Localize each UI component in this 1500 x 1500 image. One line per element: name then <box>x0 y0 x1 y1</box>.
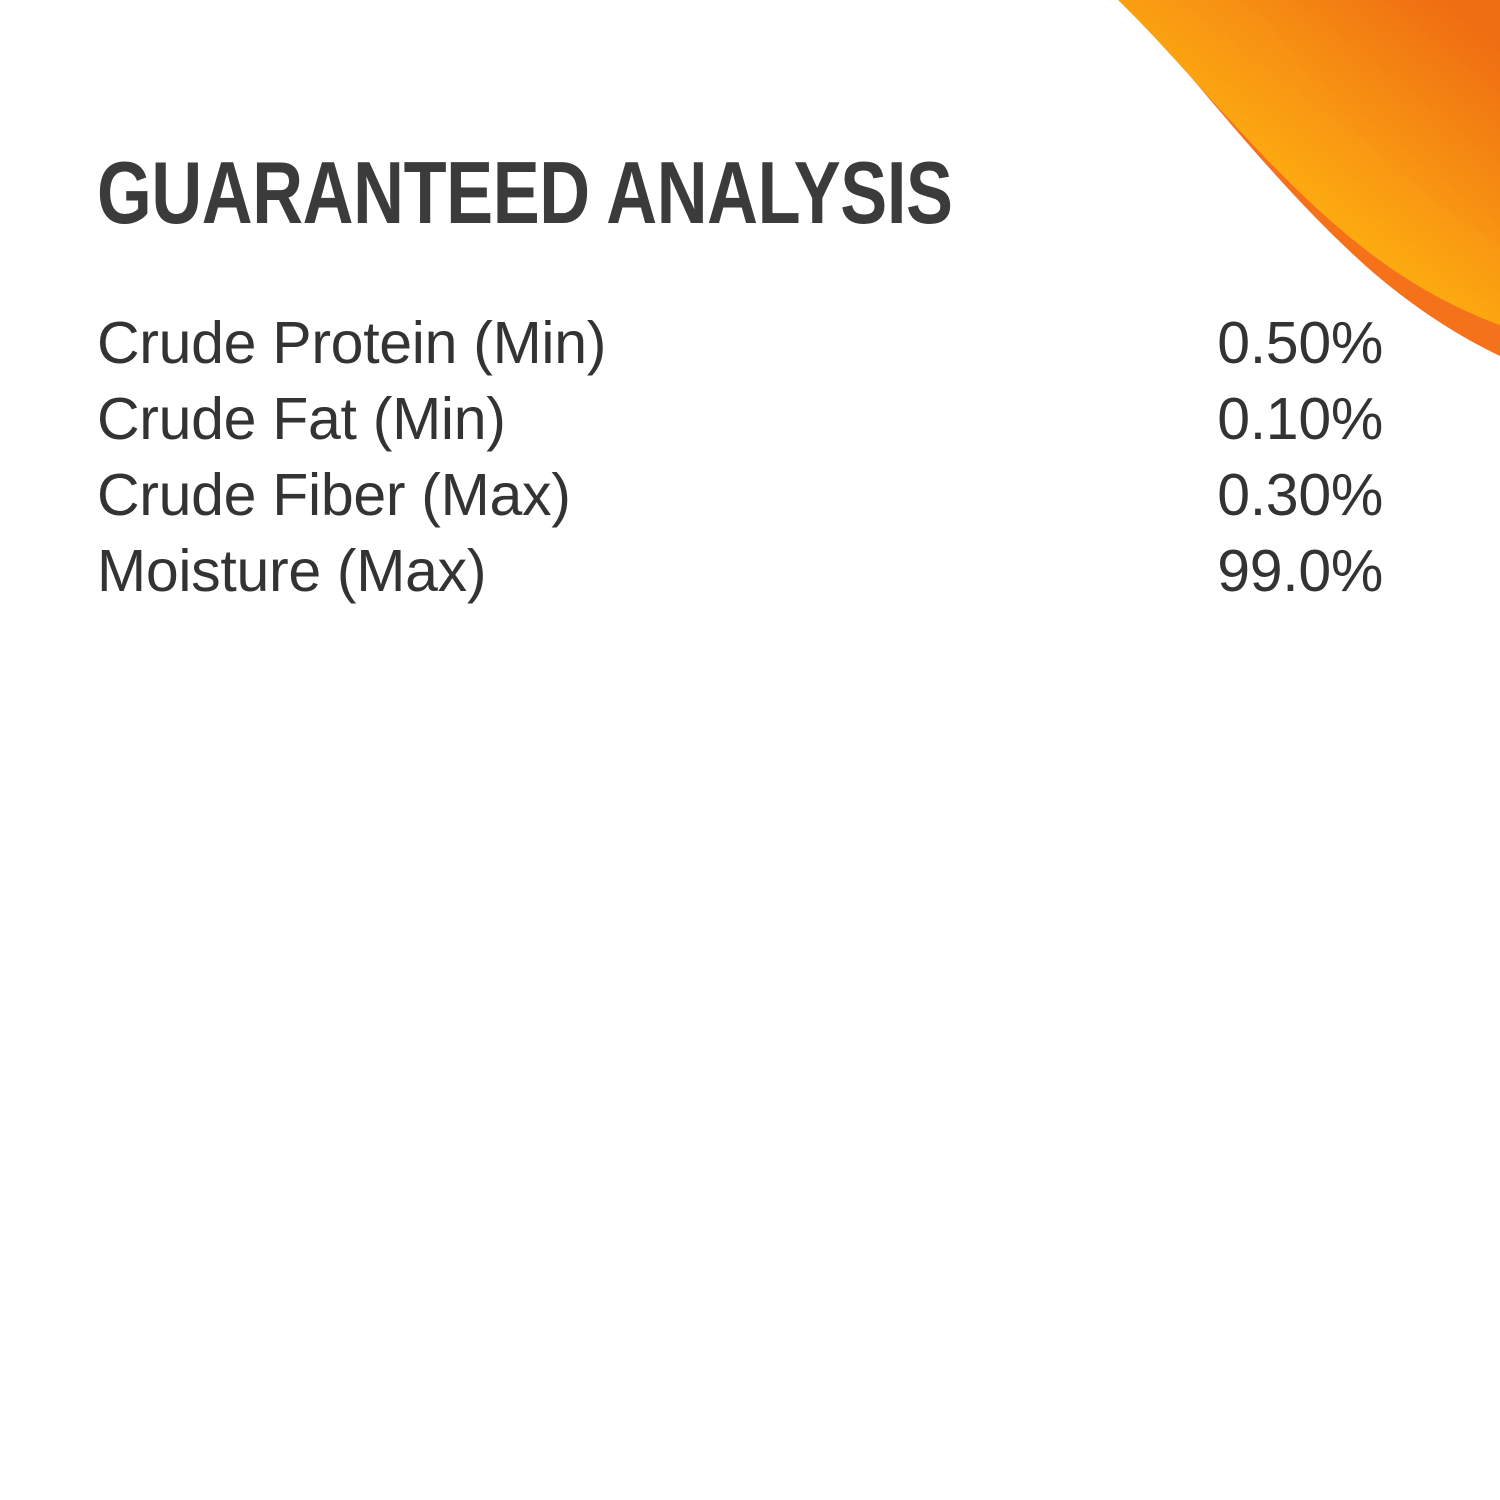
nutrient-label: Crude Fat (Min) <box>97 381 1067 457</box>
swoosh-dark-layer <box>1124 0 1500 356</box>
guaranteed-analysis-table: Crude Protein (Min) 0.50% Crude Fat (Min… <box>97 305 1383 609</box>
table-row: Crude Fat (Min) 0.10% <box>97 381 1383 457</box>
nutrient-value: 0.10% <box>1067 381 1383 457</box>
page-title: GUARANTEED ANALYSIS <box>97 149 953 237</box>
table-row: Crude Fiber (Max) 0.30% <box>97 457 1383 533</box>
table-row: Moisture (Max) 99.0% <box>97 533 1383 609</box>
swoosh-yellow-layer <box>1118 0 1500 325</box>
nutrient-value: 0.50% <box>1067 305 1383 381</box>
nutrient-value: 99.0% <box>1067 533 1383 609</box>
nutrient-label: Crude Fiber (Max) <box>97 457 1067 533</box>
nutrient-value: 0.30% <box>1067 457 1383 533</box>
nutrient-label: Moisture (Max) <box>97 533 1067 609</box>
swoosh-top-wedge <box>1250 0 1500 244</box>
table-row: Crude Protein (Min) 0.50% <box>97 305 1383 381</box>
nutrient-label: Crude Protein (Min) <box>97 305 1067 381</box>
guaranteed-analysis-panel: GUARANTEED ANALYSIS Crude Protein (Min) … <box>0 0 1500 1500</box>
